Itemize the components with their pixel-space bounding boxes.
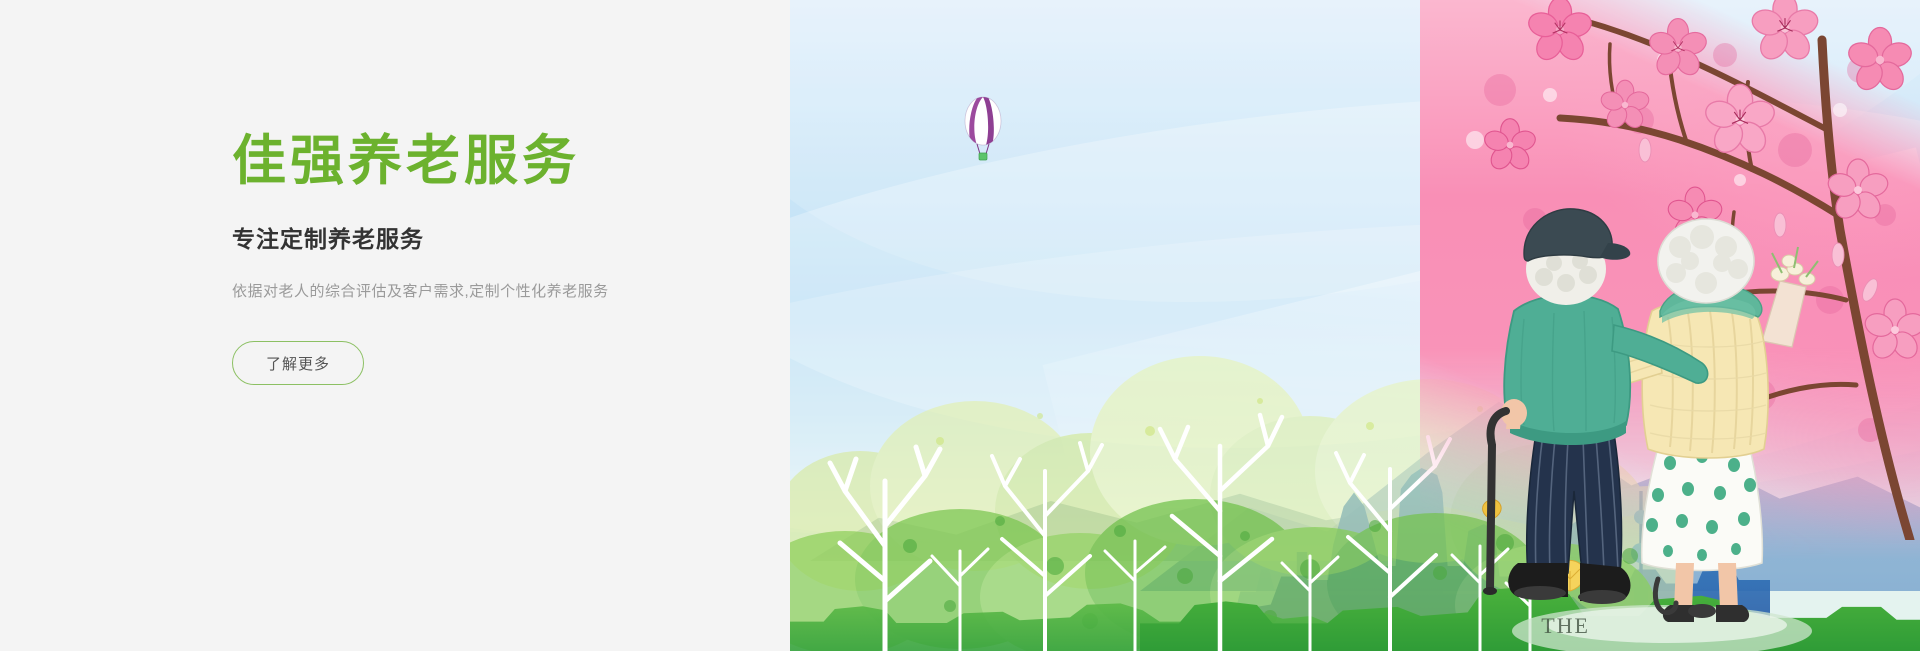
walking-cane [1483,411,1506,595]
ground-lettering: THE [1541,613,1590,639]
hero-banner: THE 佳强养老服务 专注定制养老服务 依据对老人的综合评估及客户需求,定制个性… [0,0,1920,651]
page-title: 佳强养老服务 [232,130,852,192]
learn-more-button[interactable]: 了解更多 [232,341,364,385]
hero-text-panel: 佳强养老服务 专注定制养老服务 依据对老人的综合评估及客户需求,定制个性化养老服… [232,130,852,385]
hero-description: 依据对老人的综合评估及客户需求,定制个性化养老服务 [232,280,852,301]
hero-illustration: THE [790,0,1920,651]
elderly-couple-illustration [1462,111,1862,651]
flower-bouquet [1762,247,1818,347]
hero-subtitle: 专注定制养老服务 [232,220,852,254]
hot-air-balloon-icon [958,92,1008,170]
